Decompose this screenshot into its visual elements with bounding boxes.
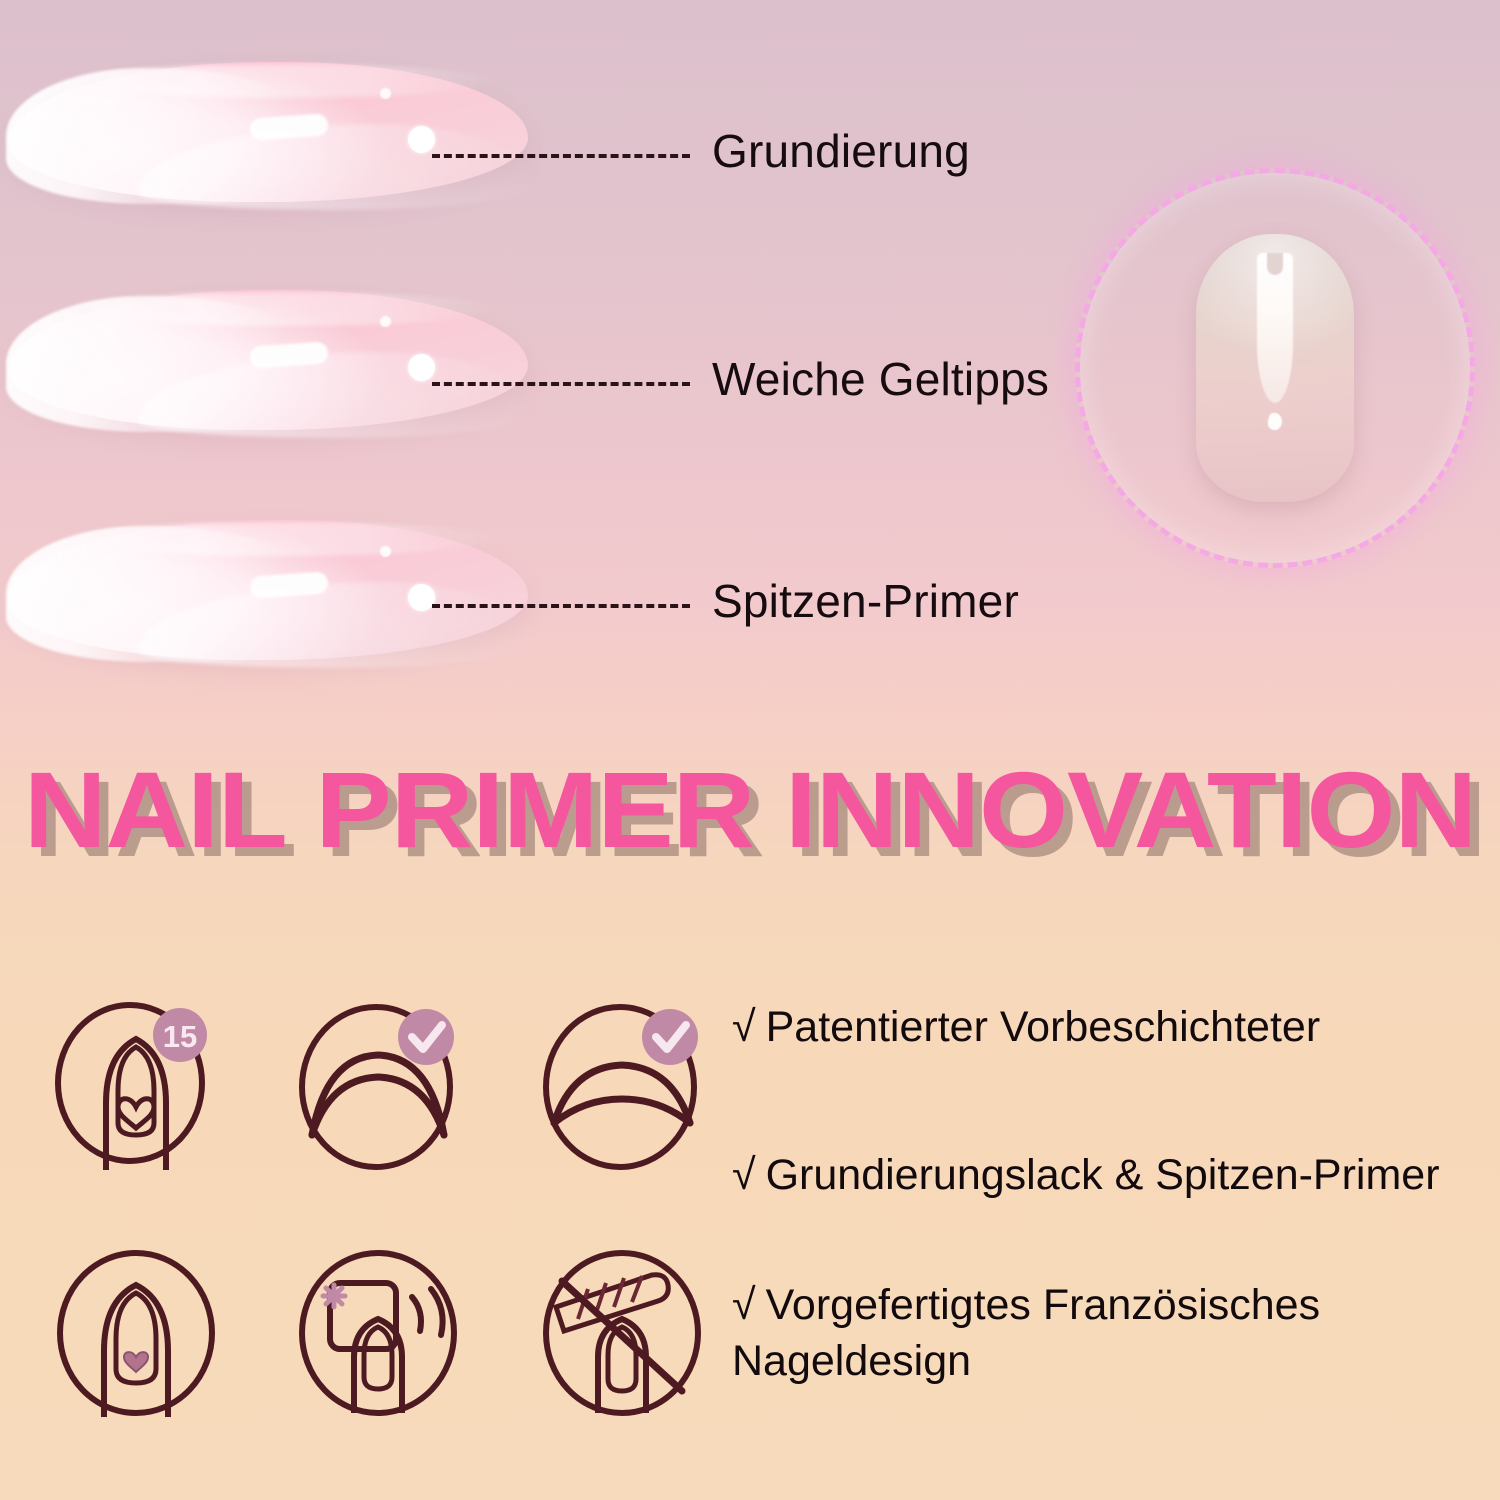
page-title: NAIL PRIMER INNOVATION [0,756,1500,864]
check-icon: √ [732,1151,756,1199]
callout-leader-line-3 [432,604,690,608]
nail-vertical-highlight [1257,253,1293,403]
callout-label-2: Weiche Geltipps [712,352,1049,406]
callout-leader-line-2 [432,382,690,386]
feature-text: Grundierungslack & Spitzen-Primer [766,1151,1440,1199]
infographic-page: Grundierung Weiche Geltipps Spitzen-Prim… [0,0,1500,1500]
uv-lamp-cure-icon [290,1245,470,1425]
feature-text: Vorgefertigtes Französisches [766,1281,1321,1329]
feature-item-3: √Vorgefertigtes Französisches Nageldesig… [732,1278,1500,1390]
nail-closeup-inset [1075,168,1475,568]
callout-anchor-dot [408,126,435,153]
callout-anchor-dot [408,584,435,611]
deep-c-curve-check-icon [290,995,470,1175]
feature-item-1: √Patentierter Vorbeschichteter [732,1000,1500,1056]
gel-top-sheen [68,292,498,326]
gel-tip-graphic-3 [8,520,528,660]
feature-text-line2: Nageldesign [732,1337,971,1385]
gel-tip-graphic-2 [8,290,528,430]
nail-heart-icon [48,1245,228,1425]
svg-text:15: 15 [163,1019,197,1054]
feature-item-2: √Grundierungslack & Spitzen-Primer [732,1148,1500,1204]
no-filing-icon [534,1245,714,1425]
sparkle-dot [380,546,391,557]
gel-top-sheen [68,64,498,98]
callout-label-1: Grundierung [712,124,970,178]
flat-curve-check-icon [534,995,714,1175]
gel-tip-graphic-1 [8,62,528,202]
nail-heart-15-days-icon: 15 [48,995,228,1175]
check-icon: √ [732,1281,756,1329]
callout-label-3: Spitzen-Primer [712,574,1019,628]
check-icon: √ [732,1003,756,1051]
sparkle-dot [380,316,391,327]
sparkle-dot [380,88,391,99]
feature-text: Patentierter Vorbeschichteter [766,1003,1321,1051]
callout-anchor-dot [408,354,435,381]
callout-leader-line-1 [432,154,690,158]
gel-top-sheen [68,522,498,556]
